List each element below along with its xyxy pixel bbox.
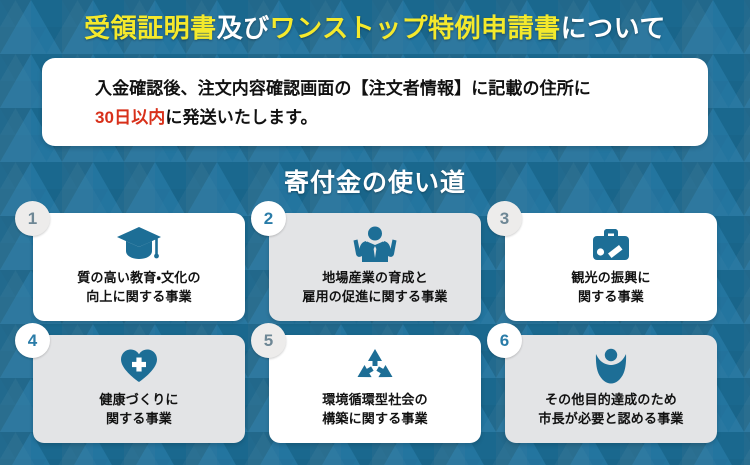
use-card-6-label: その他目的達成のため 市長が必要と認める事業	[538, 390, 683, 428]
page-title-segment-1: 受領証明書	[84, 13, 217, 43]
use-card-4-number-badge: 4	[15, 323, 50, 358]
use-card-2-number-badge: 2	[251, 201, 286, 236]
graduation-cap-icon	[116, 224, 162, 264]
use-card-5-label: 環境循環型社会の 構築に関する事業	[322, 390, 428, 428]
use-of-funds-grid: 1 質の高い教育・文化の 向上に関する事業 2	[33, 213, 717, 443]
use-card-5-label-line2: 構築に関する事業	[322, 409, 428, 428]
person-raising-arms-icon	[353, 224, 397, 264]
notice-line-2-rest: に発送いたします。	[165, 108, 317, 127]
page-title-segment-3: ワンストップ特例申請書	[270, 13, 561, 43]
use-card-1-number-badge: 1	[15, 201, 50, 236]
use-card-4-label-line2: 関する事業	[99, 409, 178, 428]
page-title-segment-2: 及び	[217, 13, 270, 43]
suitcase-icon	[589, 224, 633, 264]
recycle-icon	[354, 346, 396, 386]
use-card-3-number-badge: 3	[487, 201, 522, 236]
use-card-2[interactable]: 2 地場産業の育成と 雇用の促進に関する事業	[269, 213, 481, 321]
notice-deadline-highlight: 30日以内	[95, 108, 165, 127]
use-card-1-label-line1: 質の高い教育・文化の	[77, 268, 200, 287]
use-card-5-number-badge: 5	[251, 323, 286, 358]
use-card-6-label-line2: 市長が必要と認める事業	[538, 409, 683, 428]
use-card-3-label-line2: 関する事業	[571, 287, 650, 306]
use-card-1[interactable]: 1 質の高い教育・文化の 向上に関する事業	[33, 213, 245, 321]
shipping-notice-card: 入金確認後、注文内容確認画面の【注文者情報】に記載の住所に 30日以内に発送いた…	[42, 58, 708, 146]
use-card-5[interactable]: 5 環境循環型社会の 構築に関する事業	[269, 335, 481, 443]
page-title: 受領証明書及びワンストップ特例申請書について	[0, 11, 750, 45]
notice-line-2: 30日以内に発送いたします。	[95, 103, 708, 132]
heart-plus-icon	[119, 346, 159, 386]
use-card-3-label-line1: 観光の振興に	[571, 268, 650, 287]
use-card-4[interactable]: 4 健康づくりに 関する事業	[33, 335, 245, 443]
person-in-hands-icon	[593, 346, 629, 386]
use-card-1-label: 質の高い教育・文化の 向上に関する事業	[77, 268, 200, 306]
use-card-6[interactable]: 6 その他目的達成のため 市長が必要と認める事業	[505, 335, 717, 443]
use-card-5-label-line1: 環境循環型社会の	[322, 390, 428, 409]
use-card-2-label: 地場産業の育成と 雇用の促進に関する事業	[302, 268, 447, 306]
use-card-3-label: 観光の振興に 関する事業	[571, 268, 650, 306]
notice-line-1: 入金確認後、注文内容確認画面の【注文者情報】に記載の住所に	[95, 74, 708, 103]
use-card-4-label-line1: 健康づくりに	[99, 390, 178, 409]
use-card-4-label: 健康づくりに 関する事業	[99, 390, 178, 428]
use-card-2-label-line2: 雇用の促進に関する事業	[302, 287, 447, 306]
use-card-2-label-line1: 地場産業の育成と	[302, 268, 447, 287]
page-title-segment-4: について	[561, 13, 666, 43]
use-card-3[interactable]: 3 観光の振興に 関する事業	[505, 213, 717, 321]
section-heading-donation-usage: 寄付金の使い道	[0, 163, 750, 199]
use-card-6-label-line1: その他目的達成のため	[538, 390, 683, 409]
use-card-6-number-badge: 6	[487, 323, 522, 358]
use-card-1-label-line2: 向上に関する事業	[77, 287, 200, 306]
infographic-page: 受領証明書及びワンストップ特例申請書について 入金確認後、注文内容確認画面の【注…	[0, 0, 750, 465]
